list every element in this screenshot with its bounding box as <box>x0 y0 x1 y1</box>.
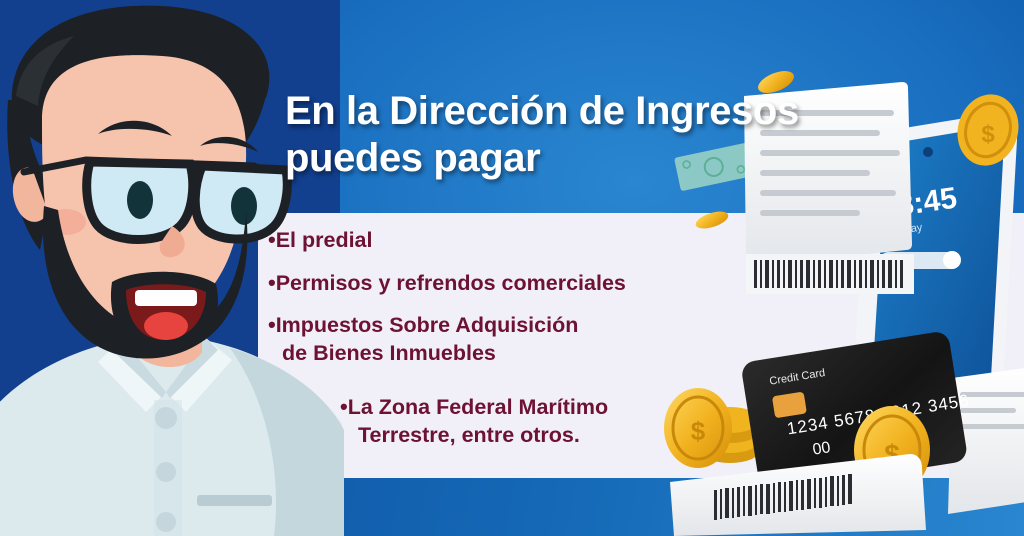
list-item-label: El predial <box>276 228 373 252</box>
heading-line-2: puedes pagar <box>285 135 965 182</box>
phone-slider-knob <box>943 251 961 269</box>
shirt-button <box>156 512 176 532</box>
list-item-label-line2: de Bienes Inmuebles <box>268 340 788 368</box>
bullet-icon: • <box>268 227 276 252</box>
list-item-label-line2: Terrestre, entre otros. <box>340 422 788 450</box>
teeth-icon <box>135 290 197 306</box>
services-list: •El predial •Permisos y refrendos comerc… <box>268 226 788 463</box>
list-item: •Impuestos Sobre Adquisición de Bienes I… <box>268 311 788 367</box>
list-item: •El predial <box>268 226 788 255</box>
list-item: •La Zona Federal Marítimo Terrestre, ent… <box>268 393 788 449</box>
pupil <box>231 187 257 225</box>
shirt-button <box>155 407 177 429</box>
bullet-icon: • <box>268 270 276 295</box>
page-title: En la Dirección de Ingresos puedes pagar <box>285 88 965 182</box>
bullet-icon: • <box>268 312 276 337</box>
tongue-icon <box>144 312 188 340</box>
list-item-label: Impuestos Sobre Adquisición <box>276 313 579 337</box>
bullet-icon: • <box>340 394 348 419</box>
heading-line-1: En la Dirección de Ingresos <box>285 89 799 133</box>
shirt-button <box>156 462 176 482</box>
svg-text:$: $ <box>981 121 995 148</box>
card-small-left: 00 <box>811 439 831 459</box>
list-item: •Permisos y refrendos comerciales <box>268 269 788 298</box>
pupil <box>127 181 153 219</box>
list-item-label: Permisos y refrendos comerciales <box>276 271 626 295</box>
promo-banner: En la Dirección de Ingresos puedes pagar… <box>0 0 1024 536</box>
shirt-pocket-line <box>197 495 272 506</box>
list-item-label: La Zona Federal Marítimo <box>348 395 608 419</box>
